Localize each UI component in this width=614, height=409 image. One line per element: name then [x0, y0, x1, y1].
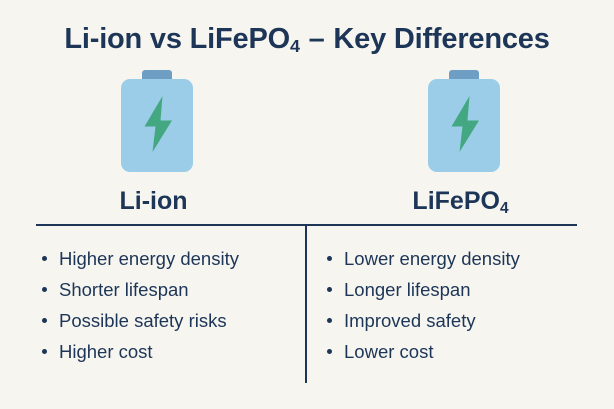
page-title-subscript: 4: [290, 36, 300, 56]
column-li-ion: Li-ion: [0, 70, 307, 216]
list-item: Higher cost: [42, 336, 297, 367]
bullet-dot-icon: [42, 318, 47, 323]
page-title: Li-ion vs LiFePO4 – Key Differences: [0, 24, 614, 56]
list-item: Shorter lifespan: [42, 274, 297, 305]
bullet-dot-icon: [327, 287, 332, 292]
bullet-dot-icon: [327, 256, 332, 261]
vertical-divider: [305, 226, 307, 383]
bullet-dot-icon: [42, 256, 47, 261]
list-item: Lower cost: [327, 336, 592, 367]
list-item-label: Lower cost: [344, 341, 433, 362]
lightning-bolt-icon: [139, 96, 177, 152]
lightning-bolt-icon: [446, 96, 484, 152]
bullet-dot-icon: [42, 287, 47, 292]
column-heading-li-ion-base: Li-ion: [119, 187, 187, 215]
page-title-part2: Key Differences: [333, 23, 549, 55]
list-item-label: Higher energy density: [59, 248, 239, 269]
column-heading-li-ion: Li-ion: [0, 188, 307, 216]
column-heading-lifepo4: LiFePO4: [307, 188, 614, 216]
list-item-label: Lower energy density: [344, 248, 520, 269]
list-item-label: Improved safety: [344, 310, 476, 331]
bullet-dot-icon: [42, 349, 47, 354]
column-lifepo4: LiFePO4: [307, 70, 614, 216]
list-item-label: Possible safety risks: [59, 310, 227, 331]
column-heading-lifepo4-subscript: 4: [500, 200, 509, 217]
battery-icon-wrap-lifepo4: [307, 70, 614, 182]
bullet-list-li-ion: Higher energy density Shorter lifespan P…: [42, 243, 297, 367]
list-item-label: Shorter lifespan: [59, 279, 189, 300]
bullet-list-lifepo4: Lower energy density Longer lifespan Imp…: [327, 243, 592, 367]
battery-bolt-icon: [428, 70, 500, 172]
list-item-label: Longer lifespan: [344, 279, 471, 300]
list-item: Higher energy density: [42, 243, 297, 274]
list-item: Improved safety: [327, 305, 592, 336]
battery-bolt-icon: [121, 70, 193, 172]
battery-icon-wrap-li-ion: [0, 70, 307, 182]
list-item: Possible safety risks: [42, 305, 297, 336]
list-item: Longer lifespan: [327, 274, 592, 305]
page-title-part1: Li-ion vs LiFePO: [64, 23, 290, 55]
list-item-label: Higher cost: [59, 341, 153, 362]
infographic-canvas: Li-ion vs LiFePO4 – Key Differences Li-i…: [0, 0, 614, 409]
page-title-dash: –: [308, 23, 326, 55]
list-item: Lower energy density: [327, 243, 592, 274]
column-heading-lifepo4-base: LiFePO: [412, 187, 500, 215]
bullet-dot-icon: [327, 318, 332, 323]
bullet-dot-icon: [327, 349, 332, 354]
